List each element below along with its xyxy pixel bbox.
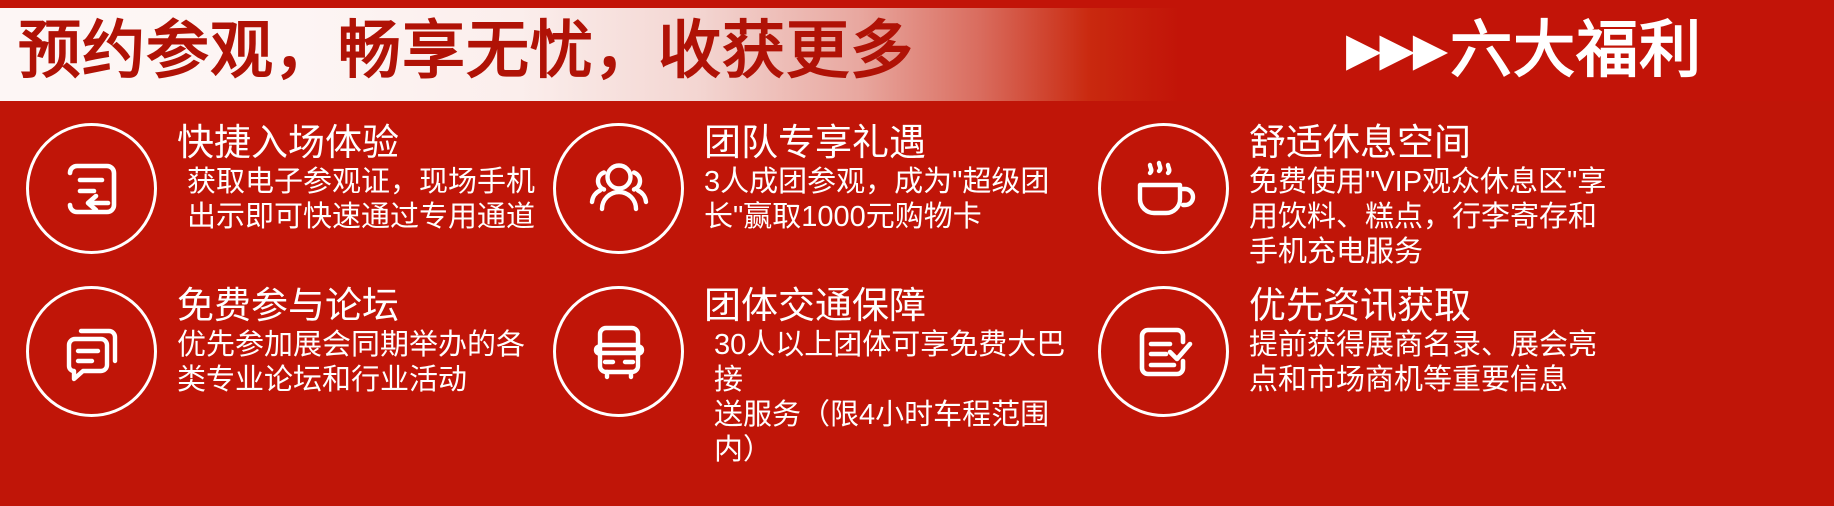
benefit-text-group: 快捷入场体验 获取电子参观证，现场手机 出示即可快速通过专用通道 bbox=[177, 119, 535, 235]
banner-header: 预约参观，畅享无忧，收获更多 ▶▶▶ 六大福利 bbox=[0, 0, 1834, 101]
triple-arrow-right-icon: ▶▶▶ bbox=[1346, 14, 1446, 84]
benefit-text-group: 优先资讯获取 提前获得展商名录、展会亮 点和市场商机等重要信息 bbox=[1249, 282, 1597, 398]
benefits-grid: 快捷入场体验 获取电子参观证，现场手机 出示即可快速通过专用通道 团队专享礼遇 … bbox=[0, 101, 1834, 506]
header-right-group: ▶▶▶ 六大福利 bbox=[1346, 16, 1702, 86]
six-benefits-label: 六大福利 bbox=[1450, 16, 1702, 86]
benefit-item-forum: 免费参与论坛 优先参加展会同期举办的各 类专业论坛和行业活动 bbox=[0, 282, 545, 383]
benefit-description: 优先参加展会同期举办的各 类专业论坛和行业活动 bbox=[177, 328, 525, 398]
benefit-item-fast-entry: 快捷入场体验 获取电子参观证，现场手机 出示即可快速通过专用通道 bbox=[0, 119, 545, 220]
chat-bubbles-icon bbox=[26, 286, 157, 417]
benefit-text-group: 团队专享礼遇 3人成团参观，成为"超级团 长"赢取1000元购物卡 bbox=[704, 119, 1049, 235]
benefit-item-lounge: 舒适休息空间 免费使用"VIP观众休息区"享 用饮料、糕点，行李寄存和 手机充电… bbox=[1090, 119, 1834, 220]
coffee-cup-icon bbox=[1098, 123, 1229, 254]
benefit-title: 优先资讯获取 bbox=[1249, 284, 1597, 328]
page-title: 预约参观，畅享无忧，收获更多 bbox=[18, 16, 914, 86]
benefit-text-group: 免费参与论坛 优先参加展会同期举办的各 类专业论坛和行业活动 bbox=[177, 282, 525, 398]
benefit-title: 舒适休息空间 bbox=[1249, 121, 1606, 165]
benefit-description: 3人成团参观，成为"超级团 长"赢取1000元购物卡 bbox=[704, 165, 1049, 235]
benefit-title: 快捷入场体验 bbox=[177, 121, 535, 165]
bus-icon bbox=[553, 286, 684, 417]
promo-banner: 预约参观，畅享无忧，收获更多 ▶▶▶ 六大福利 快捷入场体验 获取电子参观证，现… bbox=[0, 0, 1834, 506]
benefit-title: 免费参与论坛 bbox=[177, 284, 525, 328]
document-arrow-icon bbox=[26, 123, 157, 254]
benefit-description: 30人以上团体可享免费大巴接 送服务（限4小时车程范围内） bbox=[714, 328, 1090, 468]
benefit-title: 团队专享礼遇 bbox=[704, 121, 1049, 165]
group-people-icon bbox=[553, 123, 684, 254]
benefit-description: 获取电子参观证，现场手机 出示即可快速通过专用通道 bbox=[187, 165, 535, 235]
benefit-item-priority-info: 优先资讯获取 提前获得展商名录、展会亮 点和市场商机等重要信息 bbox=[1090, 282, 1834, 383]
checklist-icon bbox=[1098, 286, 1229, 417]
benefit-item-transport: 团体交通保障 30人以上团体可享免费大巴接 送服务（限4小时车程范围内） bbox=[545, 282, 1090, 383]
benefit-title: 团体交通保障 bbox=[704, 284, 1090, 328]
benefit-item-group-gift: 团队专享礼遇 3人成团参观，成为"超级团 长"赢取1000元购物卡 bbox=[545, 119, 1090, 220]
benefit-text-group: 团体交通保障 30人以上团体可享免费大巴接 送服务（限4小时车程范围内） bbox=[704, 282, 1090, 468]
benefit-description: 提前获得展商名录、展会亮 点和市场商机等重要信息 bbox=[1249, 328, 1597, 398]
benefit-description: 免费使用"VIP观众休息区"享 用饮料、糕点，行李寄存和 手机充电服务 bbox=[1249, 165, 1606, 270]
benefit-text-group: 舒适休息空间 免费使用"VIP观众休息区"享 用饮料、糕点，行李寄存和 手机充电… bbox=[1249, 119, 1606, 270]
